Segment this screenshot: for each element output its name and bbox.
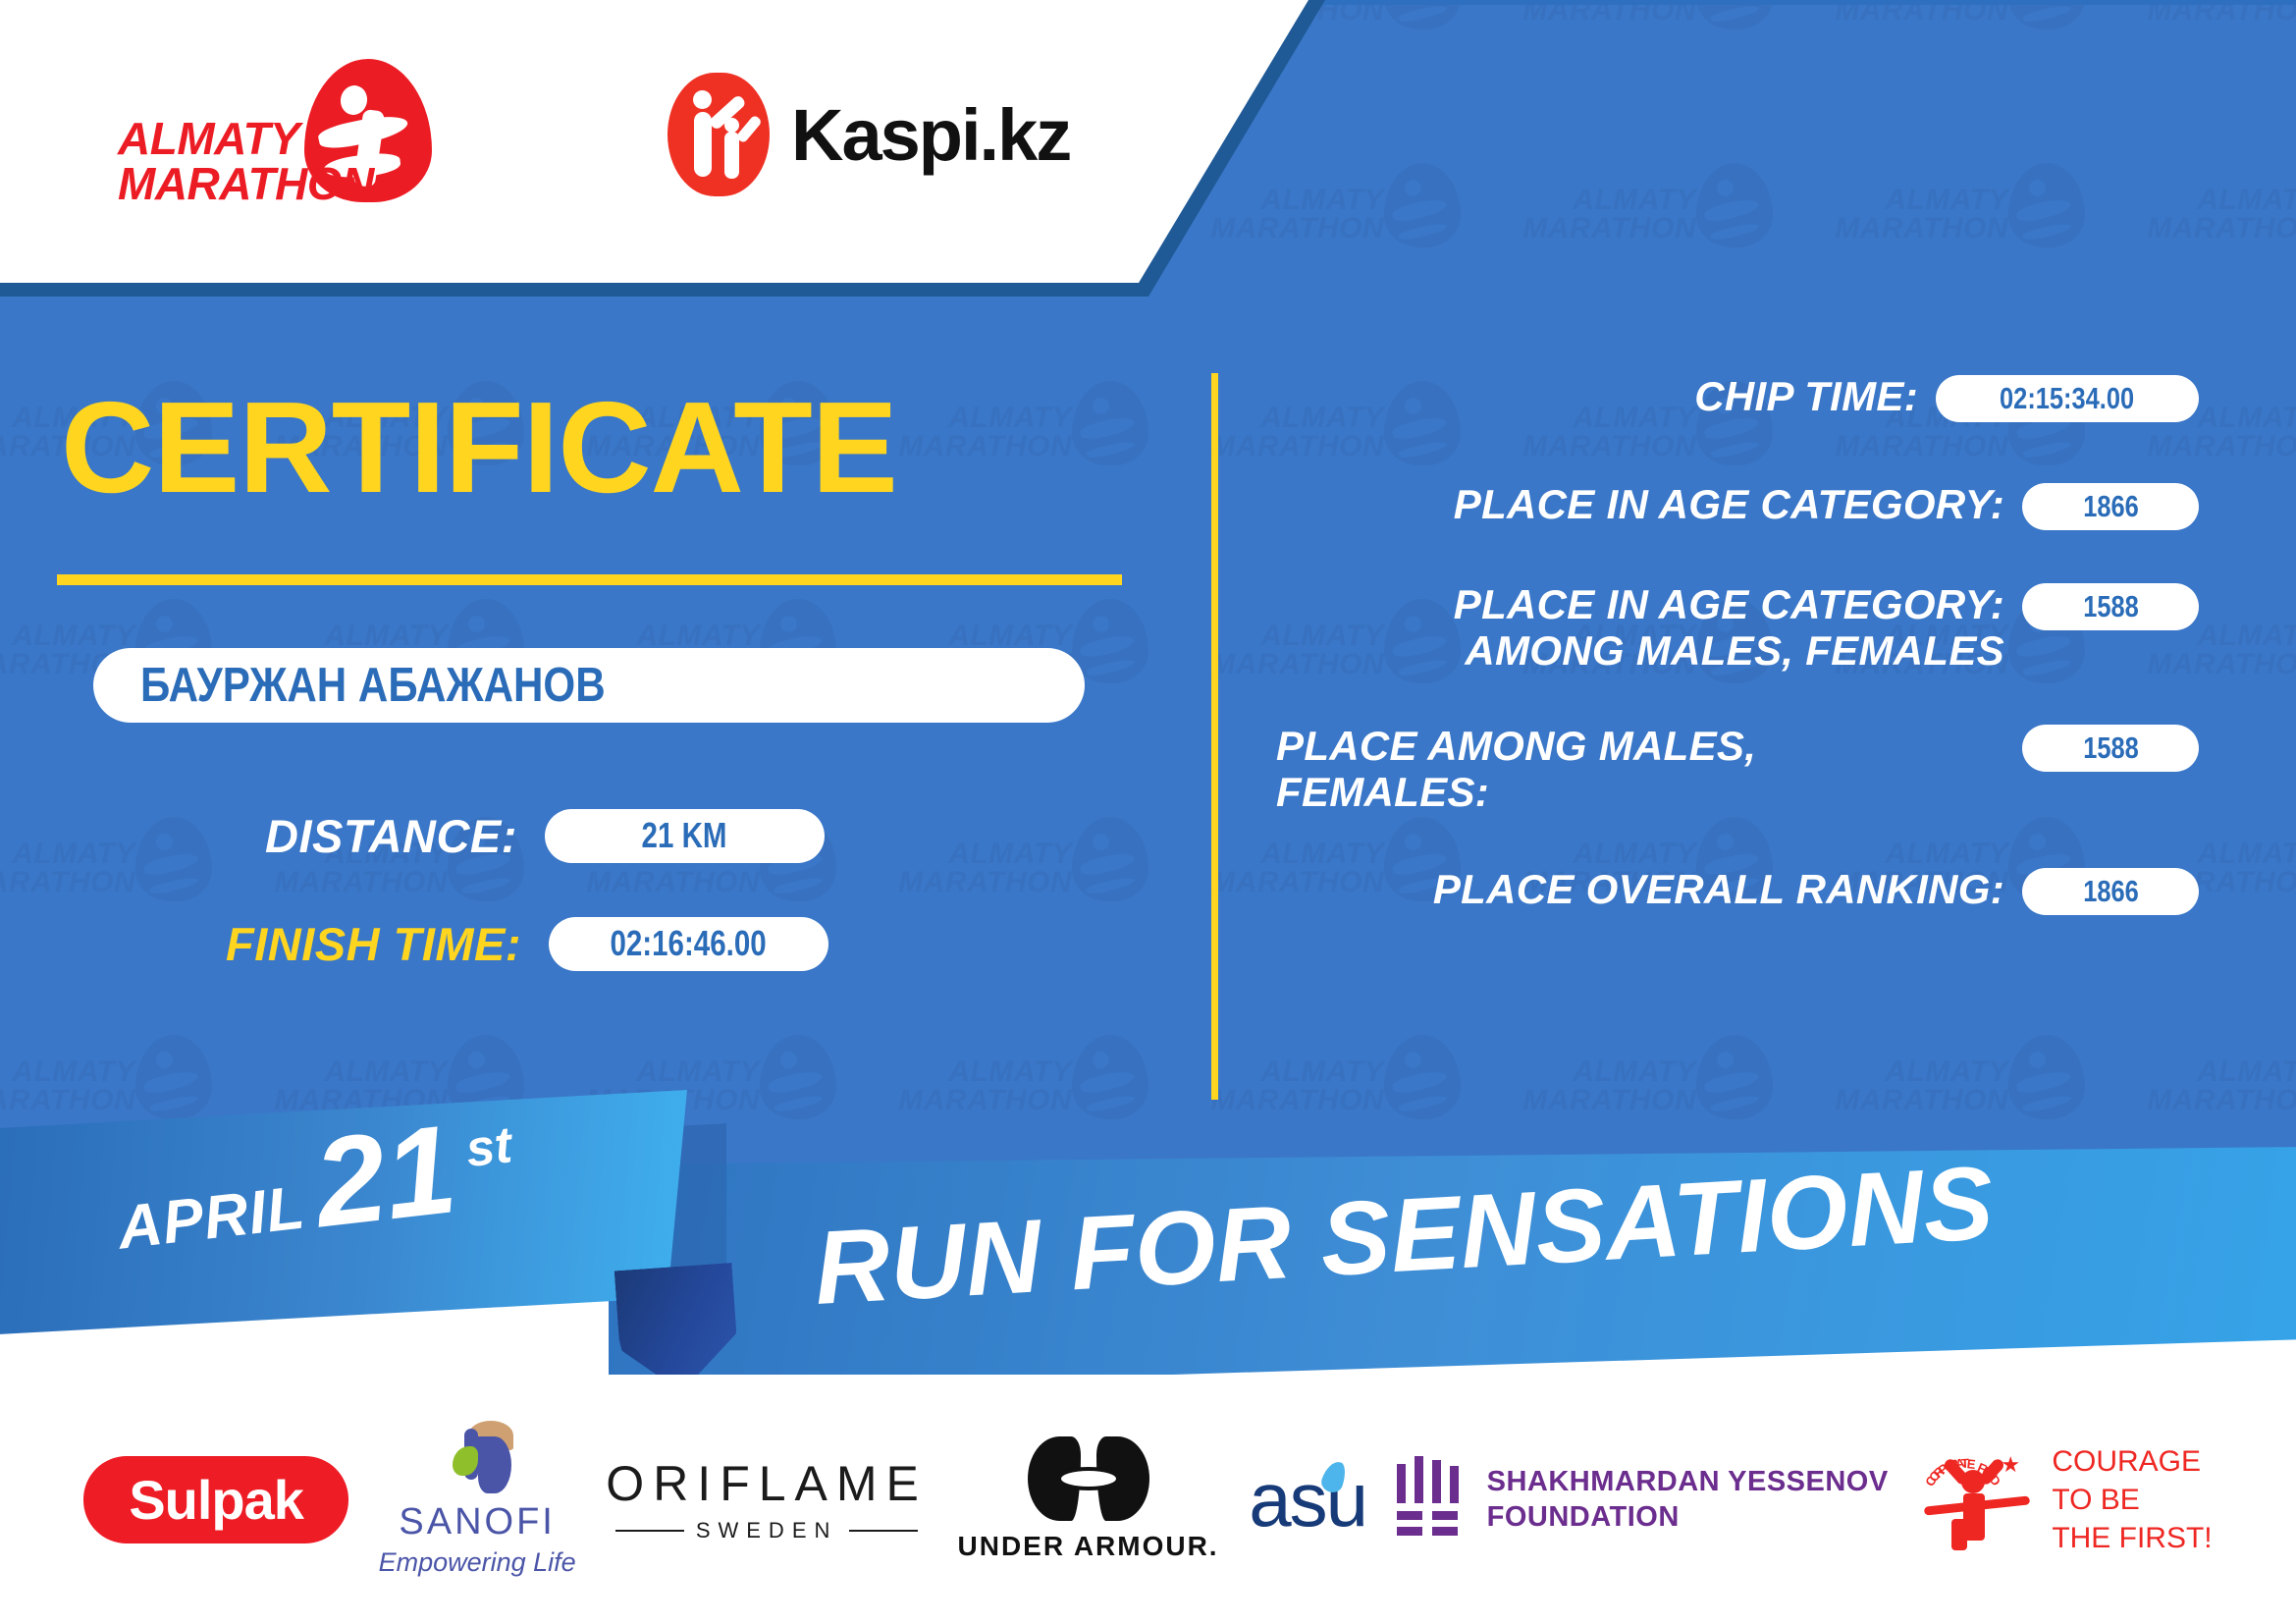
asu-wordmark: asu (1249, 1455, 1366, 1544)
sponsor-bar: Sulpak SANOFI Empowering Life ORIFLAME S… (0, 1375, 2296, 1624)
event-day-suffix: st (463, 1115, 515, 1179)
sponsor-sulpak: Sulpak (83, 1456, 348, 1543)
stat-label: PLACE AMONG MALES, FEMALES: (1266, 723, 2022, 815)
courage-line2: TO BE (2052, 1481, 2212, 1519)
title-underline (57, 574, 1122, 585)
athlete-name-value: БАУРЖАН АБАЖАНОВ (140, 658, 606, 713)
distance-value-pill: 21 KM (545, 809, 825, 863)
watermark-tile: ALMATYMARATHON (1470, 0, 1785, 88)
stat-value: 1588 (2083, 731, 2139, 766)
stat-row: CHIP TIME: 02:15:34.00 (1266, 373, 2199, 422)
sponsor-under-armour: UNDER ARMOUR. (958, 1436, 1219, 1562)
stat-row: PLACE AMONG MALES, FEMALES: 1588 (1266, 723, 2199, 815)
stat-label: CHIP TIME: (1266, 373, 1936, 419)
stat-label-line2: AMONG MALES, FEMALES (1266, 627, 2004, 674)
almaty-marathon-wordmark: ALMATY MARATHON (118, 116, 344, 206)
watermark-tile: ALMATYMARATHON (2095, 159, 2296, 306)
stat-value-pill: 1866 (2022, 868, 2199, 915)
stat-value: 1866 (2083, 874, 2139, 909)
distance-label: DISTANCE: (265, 809, 517, 863)
sponsor-sanofi: SANOFI Empowering Life (379, 1421, 576, 1578)
watermark-tile: ALMATYMARATHON (2095, 0, 2296, 88)
yessenov-icon (1397, 1456, 1462, 1543)
stat-value: 1588 (2083, 589, 2139, 624)
event-day: 21 (309, 1112, 460, 1241)
kaspi-people-icon (667, 73, 770, 196)
stat-label-line2: FEMALES: (1276, 769, 2004, 815)
stat-label-line1: PLACE AMONG MALES, (1276, 723, 2004, 769)
finish-time-label: FINISH TIME: (226, 917, 521, 971)
watermark-tile: ALMATYMARATHON (1470, 159, 1785, 306)
sponsor-yessenov: SHAKHMARDAN YESSENOV FOUNDATION (1397, 1456, 1889, 1543)
oriflame-wordmark: ORIFLAME (606, 1455, 928, 1512)
under-armour-icon (1028, 1436, 1149, 1521)
stat-label: PLACE OVERALL RANKING: (1266, 866, 2022, 912)
finish-time-value-pill: 02:16:46.00 (549, 917, 828, 971)
stat-value-pill: 1588 (2022, 583, 2199, 630)
sponsor-oriflame: ORIFLAME SWEDEN (606, 1455, 928, 1543)
watermark-tile: ALMATYMARATHON (1783, 159, 2097, 306)
asu-text: asu (1249, 1456, 1366, 1543)
sponsor-courage-fund: CORPORATE FUND ★ COURAGE TO BE THE FIRST… (1918, 1442, 2212, 1557)
yessenov-line2: FOUNDATION (1487, 1499, 1889, 1535)
stat-value: 1866 (2083, 489, 2139, 524)
yessenov-line1: SHAKHMARDAN YESSENOV (1487, 1464, 1889, 1499)
athlete-name-field: БАУРЖАН АБАЖАНОВ (93, 648, 1085, 723)
finish-time-value: 02:16:46.00 (611, 923, 767, 964)
sulpak-wordmark: Sulpak (83, 1456, 348, 1543)
event-ribbon: APRIL 21 st RUN FOR SENSATIONS (0, 1090, 2296, 1414)
almaty-line: ALMATY (118, 116, 344, 161)
stat-label: PLACE IN AGE CATEGORY: AMONG MALES, FEMA… (1266, 581, 2022, 674)
stat-row: PLACE OVERALL RANKING: 1866 (1266, 866, 2199, 915)
stat-value-pill: 1866 (2022, 483, 2199, 530)
oriflame-sub: SWEDEN (615, 1518, 919, 1543)
stat-row: PLACE IN AGE CATEGORY: 1866 (1266, 481, 2199, 530)
almaty-marathon-logo: ALMATY MARATHON (118, 59, 452, 216)
watermark-tile: ALMATYMARATHON (0, 813, 224, 960)
courage-line1: COURAGE (2052, 1442, 2212, 1481)
watermark-tile: ALMATYMARATHON (1783, 0, 2097, 88)
page-title: CERTIFICATE (61, 383, 897, 513)
oriflame-rule-left (615, 1530, 684, 1532)
vertical-divider (1211, 373, 1218, 1100)
stat-value-pill: 02:15:34.00 (1936, 375, 2199, 422)
certificate-canvas: ALMATYMARATHONALMATYMARATHONALMATYMARATH… (0, 0, 2296, 1624)
stat-value-pill: 1588 (2022, 725, 2199, 772)
courage-line3: THE FIRST! (2052, 1519, 2212, 1557)
kaspi-logo: Kaspi.kz (667, 71, 1070, 198)
yessenov-wordmark: SHAKHMARDAN YESSENOV FOUNDATION (1487, 1464, 1889, 1536)
stat-value: 02:15:34.00 (2000, 381, 2134, 416)
oriflame-country: SWEDEN (696, 1518, 838, 1543)
sanofi-tagline: Empowering Life (379, 1547, 576, 1578)
stat-label-line1: PLACE IN AGE CATEGORY: (1266, 581, 2004, 627)
stat-label: PLACE IN AGE CATEGORY: (1266, 481, 2022, 527)
sanofi-icon (439, 1421, 515, 1495)
finish-time-row: FINISH TIME: 02:16:46.00 (226, 913, 913, 974)
oriflame-rule-right (849, 1530, 918, 1532)
distance-row: DISTANCE: 21 KM (265, 805, 913, 866)
stats-list: CHIP TIME: 02:15:34.00 PLACE IN AGE CATE… (1266, 373, 2199, 956)
sponsor-asu: asu (1249, 1455, 1366, 1544)
sanofi-wordmark: SANOFI (399, 1501, 555, 1543)
stat-row: PLACE IN AGE CATEGORY: AMONG MALES, FEMA… (1266, 581, 2199, 674)
distance-value: 21 KM (642, 815, 727, 856)
kaspi-wordmark: Kaspi.kz (791, 93, 1070, 177)
marathon-line: MARATHON (118, 161, 344, 206)
courage-wordmark: COURAGE TO BE THE FIRST! (2052, 1442, 2212, 1557)
courage-runner-icon: CORPORATE FUND ★ (1918, 1448, 2034, 1550)
under-armour-wordmark: UNDER ARMOUR. (958, 1531, 1219, 1562)
